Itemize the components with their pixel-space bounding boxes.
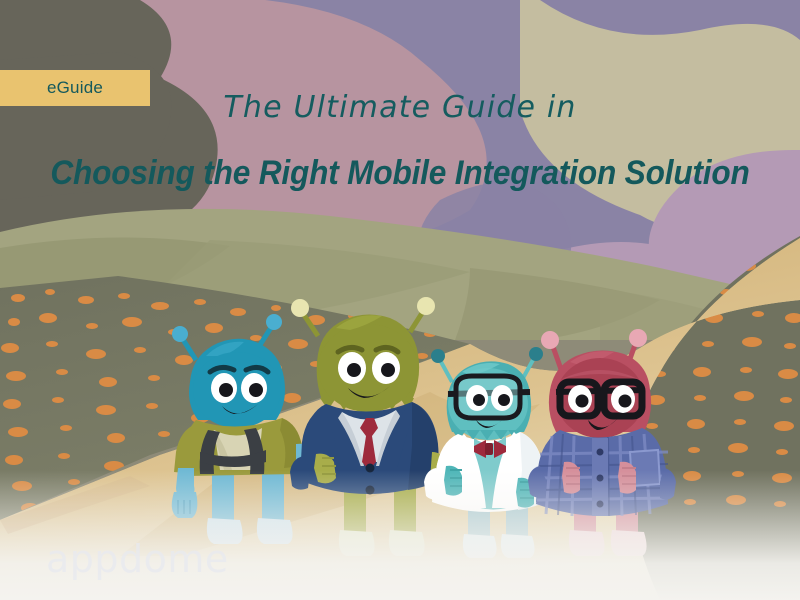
appdome-logo: appdome [46, 537, 229, 581]
eguide-cover-slide: eGuide The Ultimate Guide in Choosing th… [0, 0, 800, 600]
page-title: Choosing the Right Mobile Integration So… [28, 154, 772, 193]
title-eyebrow: The Ultimate Guide in [0, 90, 800, 125]
